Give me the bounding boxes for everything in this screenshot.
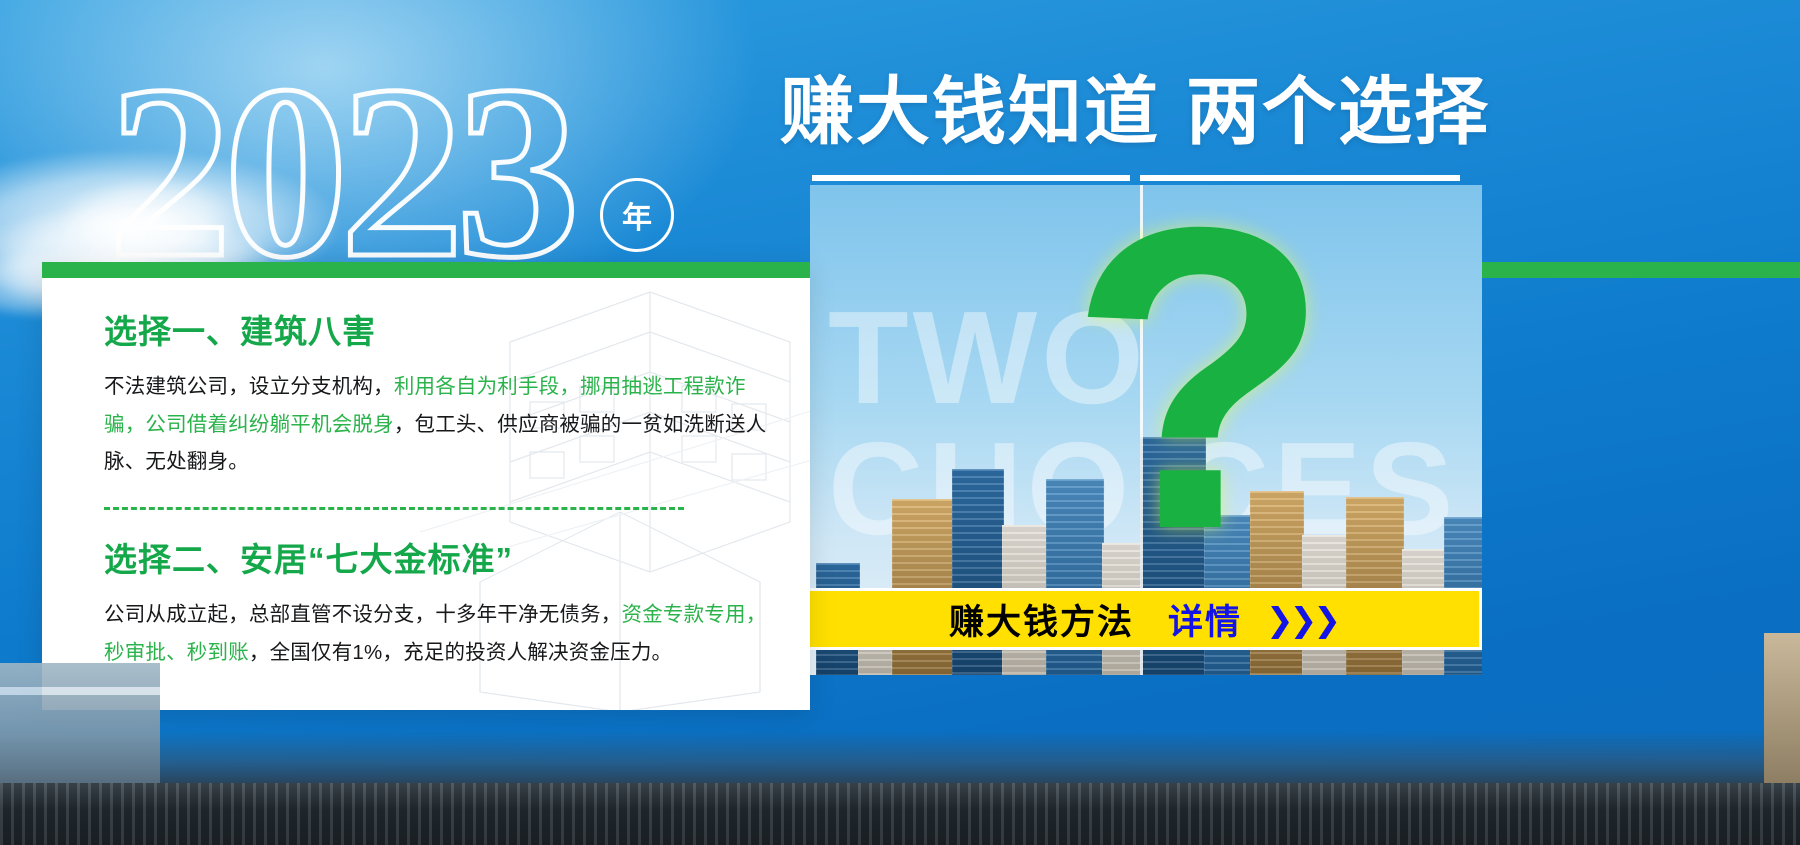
section-divider [104,507,684,510]
section-1-text-a: 不法建筑公司，设立分支机构， [104,375,394,398]
section-2-text-a: 公司从成立起，总部直管不设分支，十多年干净无债务， [104,603,622,626]
section-1-body: 不法建筑公司，设立分支机构，利用各自为利手段，挪用抽逃工程款诈骗，公司借着纠纷躺… [104,368,770,482]
section-2-text-c: ，全国仅有1%，充足的投资人解决资金压力。 [249,641,672,664]
bridge-graphic [0,663,160,783]
year-unit-label: 年 [622,193,652,237]
chevron-right-icon: ❯❯❯ [1266,600,1337,639]
section-1-title: 选择一、建筑八害 [104,312,770,352]
cloud-shape [60,178,240,258]
poster-root: 2023 年 赚大钱知道两个选择 TWO CHOICES [0,0,1800,845]
card-content: 选择一、建筑八害 不法建筑公司，设立分支机构，利用各自为利手段，挪用抽逃工程款诈… [104,312,770,672]
headline-rule-left [812,175,1130,181]
card-top-accent-bar [42,262,810,278]
cta-banner[interactable]: 赚大钱方法 详情 ❯❯❯ [804,588,1482,650]
year-unit-badge: 年 [600,178,674,252]
footer-band [0,783,1800,845]
cta-main-label: 赚大钱方法 [949,594,1134,645]
headline-rule-right [1140,175,1460,181]
content-card: 选择一、建筑八害 不法建筑公司，设立分支机构，利用各自为利手段，挪用抽逃工程款诈… [42,262,810,710]
green-accent-strip [1462,262,1800,278]
cta-detail-link[interactable]: 详情 [1168,594,1242,645]
section-2: 选择二、安居“七大金标准” 公司从成立起，总部直管不设分支，十多年干净无债务，资… [104,540,770,671]
side-building-graphic [1764,633,1800,783]
water-reflection [0,731,1800,783]
section-2-title: 选择二、安居“七大金标准” [104,540,770,580]
page-title: 赚大钱知道两个选择 [780,75,1490,149]
section-2-body: 公司从成立起，总部直管不设分支，十多年干净无债务，资金专款专用，秒审批、秒到账，… [104,596,770,672]
headline-part-2: 两个选择 [1186,70,1490,153]
headline-part-1: 赚大钱知道 [780,70,1160,153]
